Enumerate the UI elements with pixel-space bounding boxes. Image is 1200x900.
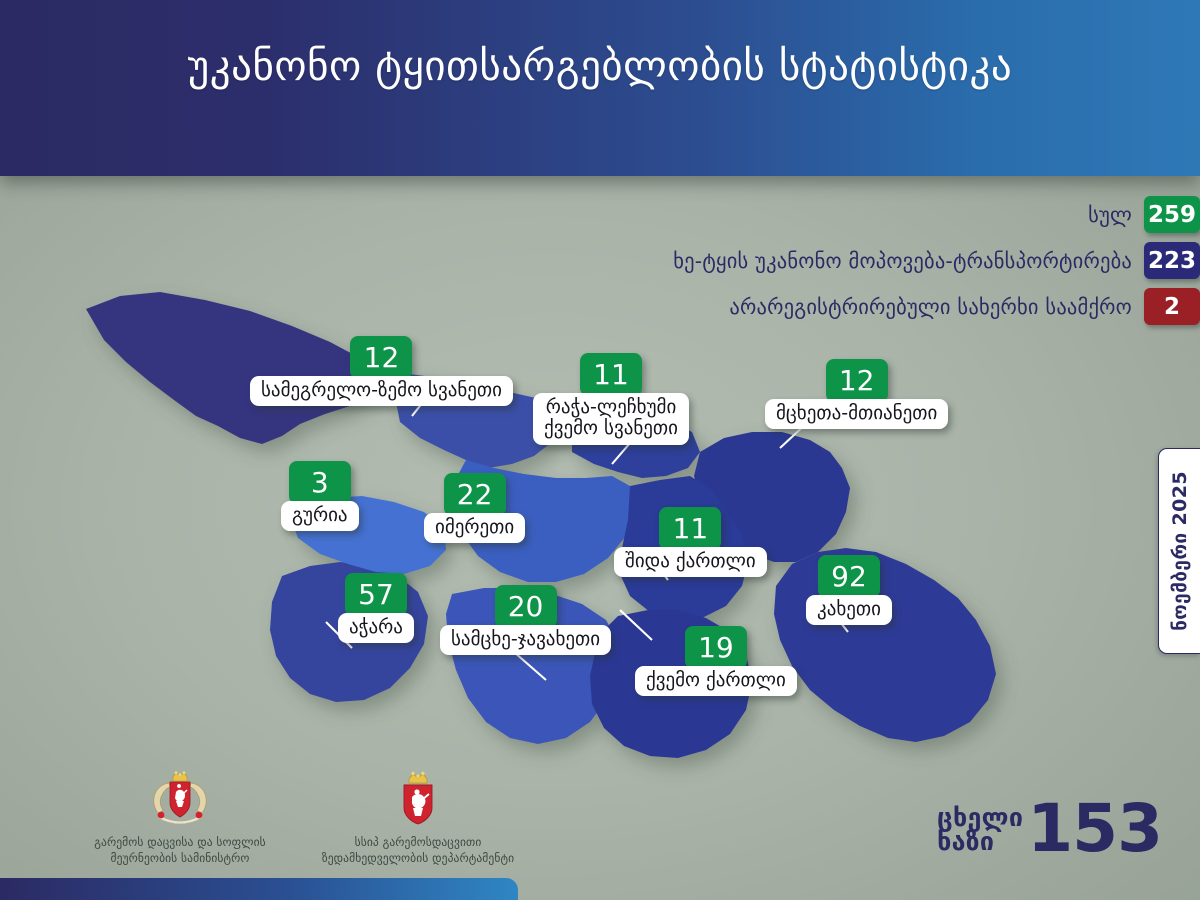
hotline-words: ცხელი ხაზი [937, 806, 1023, 854]
map-pin-kakheti[interactable]: 92 კახეთი [806, 555, 892, 625]
map-pin-value-kakheti: 92 [818, 555, 880, 598]
map-pin-value-samtskhe: 20 [495, 585, 557, 628]
map-pin-label-kvemo-kartli: ქვემო ქართლი [635, 666, 797, 696]
page-title: უკანონო ტყითსარგებლობის სტატისტიკა [188, 44, 1012, 131]
hotline-line2: ხაზი [937, 830, 1023, 854]
map-pin-kvemo-kartli[interactable]: 19 ქვემო ქართლი [635, 626, 797, 696]
map-pin-value-samegrelo: 12 [350, 336, 412, 379]
map-pin-label-racha: რაჭა-ლეჩხუმი ქვემო სვანეთი [533, 393, 689, 445]
map-pin-value-racha: 11 [580, 353, 642, 396]
ministry-coat-of-arms-icon [143, 770, 217, 826]
map-pin-value-guria: 3 [289, 461, 351, 504]
map-pin-mtskheta-mtianeti[interactable]: 12 მცხეთა-მთიანეთი [765, 359, 948, 429]
header-banner: უკანონო ტყითსარგებლობის სტატისტიკა [0, 0, 1200, 176]
hotline-number: 153 [1027, 801, 1162, 858]
map-pin-label-adjara: აჭარა [338, 613, 414, 643]
bottom-accent-bar [0, 878, 518, 900]
map-pin-imereti[interactable]: 22 იმერეთი [424, 473, 525, 543]
map-pin-label-kakheti: კახეთი [806, 595, 892, 625]
map-pin-label-guria: გურია [281, 501, 359, 531]
map-pin-guria[interactable]: 3 გურია [281, 461, 359, 531]
map-pin-label-samegrelo: სამეგრელო-ზემო სვანეთი [250, 376, 513, 406]
map-pin-value-shida-kartli: 11 [659, 507, 721, 550]
map-pin-samegrelo-zemo-svaneti[interactable]: 12 სამეგრელო-ზემო სვანეთი [250, 336, 513, 406]
map-pin-value-imereti: 22 [444, 473, 506, 516]
footer-logos: გარემოს დაცვისა და სოფლის მეურნეობის სამ… [0, 770, 660, 880]
map-pin-racha-lechkhumi[interactable]: 11 რაჭა-ლეჩხუმი ქვემო სვანეთი [533, 353, 689, 445]
map-pin-label-shida-kartli: შიდა ქართლი [614, 547, 767, 577]
logo-block-department: სსიპ გარემოსდაცვითი ზედამხედველობის დეპა… [293, 770, 543, 866]
map-pin-value-adjara: 57 [345, 573, 407, 616]
map-pin-adjara[interactable]: 57 აჭარა [338, 573, 414, 643]
department-coat-of-arms-icon [387, 770, 449, 826]
map-pin-label-imereti: იმერეთი [424, 513, 525, 543]
hotline: ცხელი ხაზი 153 [937, 801, 1162, 858]
map-pin-label-samtskhe: სამცხე-ჯავახეთი [440, 625, 611, 655]
map-pin-value-kvemo-kartli: 19 [685, 626, 747, 669]
department-caption: სსიპ გარემოსდაცვითი ზედამხედველობის დეპა… [293, 835, 543, 866]
map-pin-label-mtskheta: მცხეთა-მთიანეთი [765, 399, 948, 429]
map-pin-samtskhe-javakheti[interactable]: 20 სამცხე-ჯავახეთი [440, 585, 611, 655]
infographic-page: უკანონო ტყითსარგებლობის სტატისტიკა სულ 2… [0, 0, 1200, 900]
map-pin-shida-kartli[interactable]: 11 შიდა ქართლი [614, 507, 767, 577]
map-pin-value-mtskheta: 12 [826, 359, 888, 402]
logo-block-ministry: გარემოს დაცვისა და სოფლის მეურნეობის სამ… [55, 770, 305, 866]
ministry-caption: გარემოს დაცვისა და სოფლის მეურნეობის სამ… [55, 835, 305, 866]
